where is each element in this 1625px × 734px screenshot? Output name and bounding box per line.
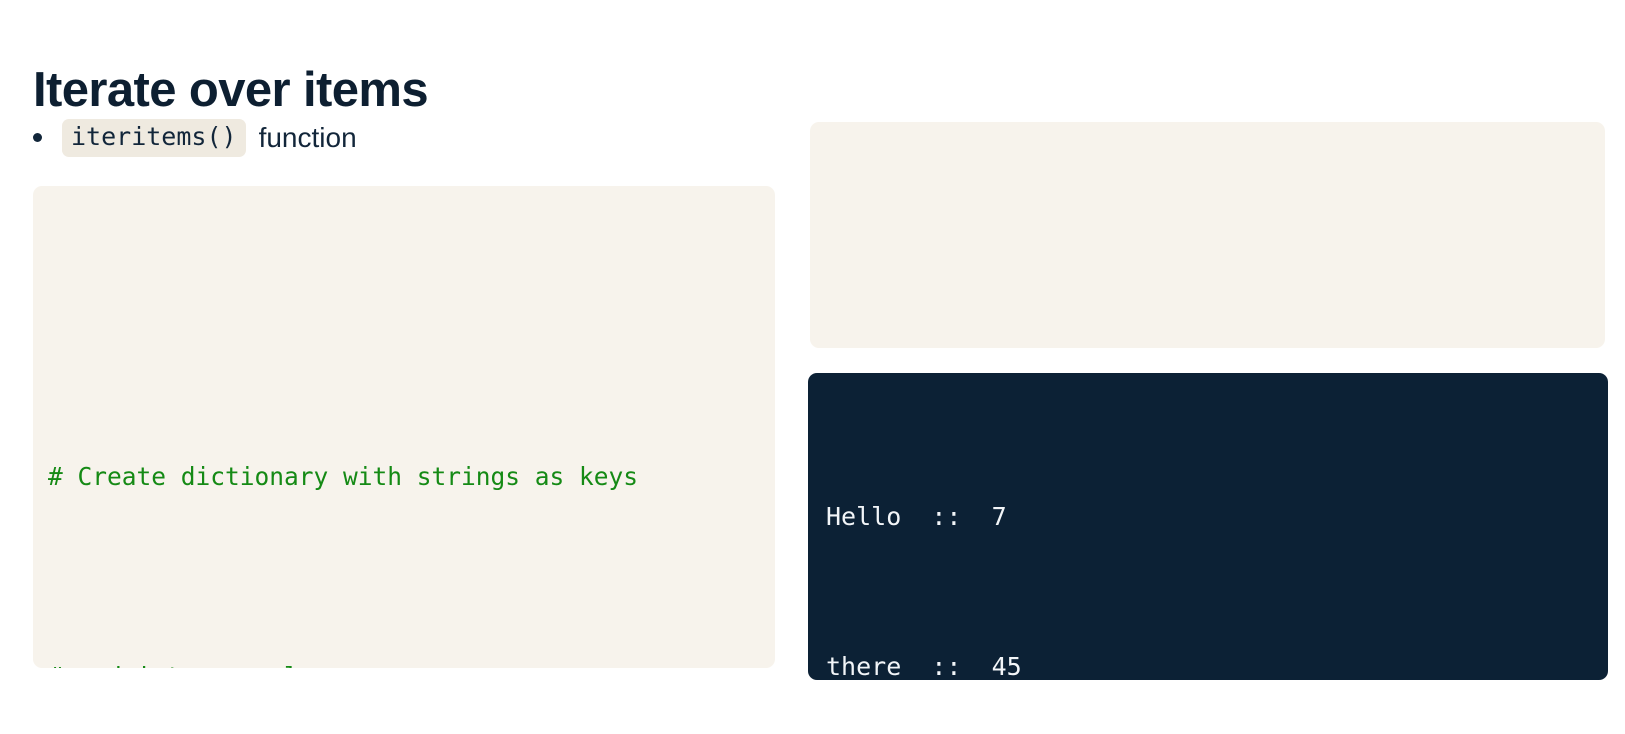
bullet-dot-icon [33, 133, 42, 142]
terminal-line: there :: 45 [826, 642, 1608, 680]
page-title: Iterate over items [33, 63, 428, 118]
code-line: # and ints as values [48, 652, 775, 668]
bullet-list: iteritems() function [33, 119, 357, 157]
inline-code-iteritems: iteritems() [62, 119, 246, 157]
code-line: # Create dictionary with strings as keys [48, 452, 775, 502]
code-token-comment: # and ints as values [48, 662, 343, 668]
list-item: iteritems() function [33, 119, 357, 157]
code-block-for-loop: # Iterate over dictionary using for loop… [810, 122, 1605, 348]
terminal-content: Hello :: 7 there :: 45 at :: 23 this :: … [808, 373, 1608, 680]
code-content: # Iterate over dictionary using for loop… [810, 222, 1605, 348]
terminal-output-panel: Hello :: 7 there :: 45 at :: 23 this :: … [808, 373, 1608, 680]
code-content: # Create dictionary with strings as keys… [33, 286, 775, 668]
code-token-comment: # Create dictionary with strings as keys [48, 462, 638, 491]
list-item-label: function [259, 120, 357, 155]
terminal-line: Hello :: 7 [826, 492, 1608, 542]
code-block-dictionary-definition: # Create dictionary with strings as keys… [33, 186, 775, 668]
